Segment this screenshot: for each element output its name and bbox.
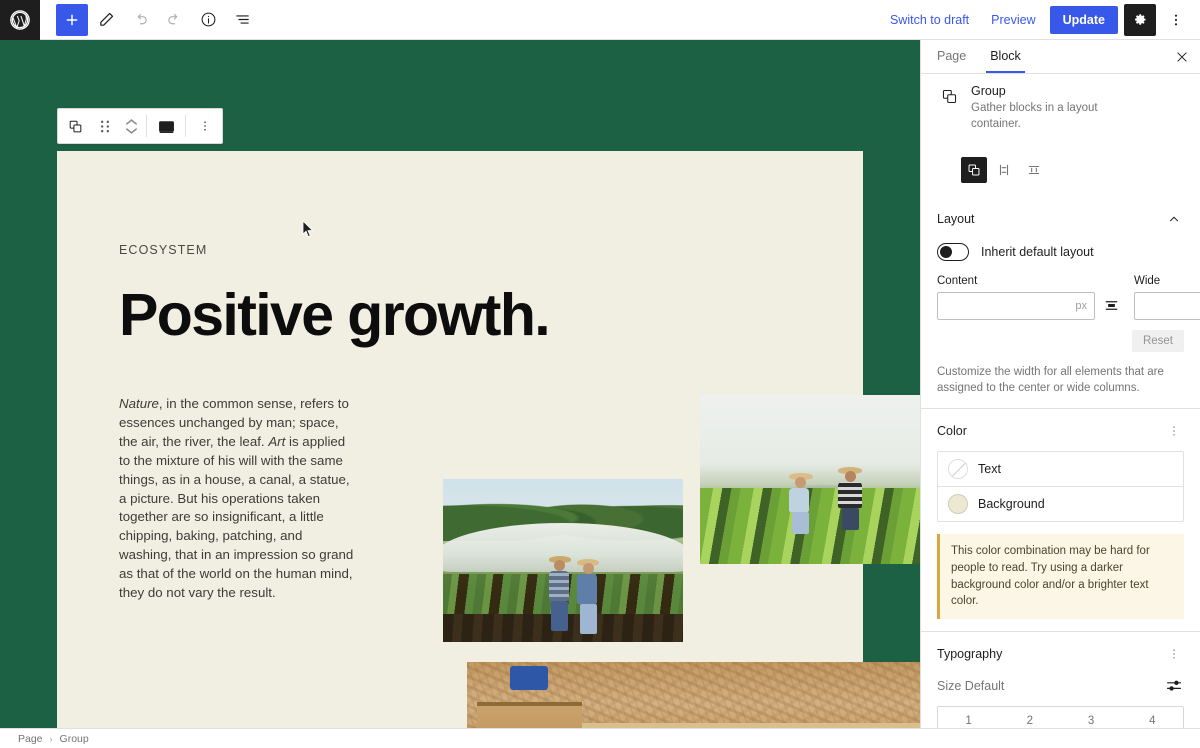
- text-color-swatch-none-icon: [948, 459, 968, 479]
- wide-width-label: Wide: [1134, 275, 1200, 287]
- more-options-vertical-dots-icon[interactable]: [1162, 4, 1190, 36]
- layout-title: Layout: [937, 212, 975, 226]
- top-bar-right-actions: Switch to draft Preview Update: [882, 4, 1200, 36]
- paragraph-emphasis-nature: Nature: [119, 396, 159, 411]
- color-options-list: Text Background: [937, 451, 1184, 522]
- typography-panel-header: Typography: [937, 644, 1184, 664]
- eyebrow-label: ECOSYSTEM: [119, 243, 801, 257]
- font-size-step-1[interactable]: 1: [938, 707, 999, 728]
- font-size-step-2[interactable]: 2: [999, 707, 1060, 728]
- chevron-up-icon[interactable]: [1164, 209, 1184, 229]
- typography-panel: Typography Size Default: [921, 632, 1200, 728]
- wordpress-logo-icon[interactable]: [0, 0, 40, 40]
- background-color-label: Background: [978, 497, 1045, 511]
- inherit-default-layout-label: Inherit default layout: [981, 245, 1094, 259]
- color-panel: Color Text: [921, 409, 1200, 632]
- font-size-row: Size Default: [937, 676, 1184, 696]
- switch-to-draft-button[interactable]: Switch to draft: [882, 7, 977, 33]
- block-options-vertical-dots-icon[interactable]: [190, 109, 220, 143]
- post-content-frame[interactable]: ECOSYSTEM Positive growth. Nature, in th…: [57, 151, 863, 728]
- inherit-layout-row[interactable]: Inherit default layout: [937, 243, 1184, 261]
- drag-dots-icon[interactable]: [90, 109, 120, 143]
- text-color-label: Text: [978, 462, 1001, 476]
- content-width-control: Content: [937, 275, 1120, 320]
- layout-panel-header[interactable]: Layout: [937, 209, 1184, 229]
- breadcrumb-separator: ›: [50, 734, 53, 744]
- color-item-background[interactable]: Background: [938, 486, 1183, 521]
- undo-button[interactable]: [124, 4, 156, 36]
- content-columns: Nature, in the common sense, refers to e…: [119, 395, 801, 603]
- breadcrumb: Page › Group: [18, 733, 89, 745]
- editor-top-bar: Switch to draft Preview Update: [0, 0, 1200, 40]
- image-workshop-interior[interactable]: [467, 662, 920, 728]
- editor-canvas[interactable]: ECOSYSTEM Positive growth. Nature, in th…: [0, 40, 920, 728]
- tab-block[interactable]: Block: [978, 40, 1033, 73]
- paragraph-emphasis-art: Art: [268, 434, 285, 449]
- block-toolbar: [57, 108, 223, 144]
- variation-group-icon[interactable]: [961, 157, 987, 183]
- layout-help-text: Customize the width for all elements tha…: [937, 364, 1184, 397]
- image-farmers-in-polytunnel[interactable]: [700, 395, 920, 564]
- move-up-down-chevron-icon[interactable]: [120, 109, 142, 143]
- variation-row-icon[interactable]: [991, 157, 1017, 183]
- inherit-default-layout-toggle[interactable]: [937, 243, 969, 261]
- toolbar-divider-2: [185, 115, 186, 137]
- close-sidebar-icon[interactable]: [1168, 43, 1196, 71]
- wide-width-control: Wide: [1134, 275, 1200, 320]
- variation-stack-icon[interactable]: [1021, 157, 1047, 183]
- list-view-button[interactable]: [226, 4, 258, 36]
- block-description: Gather blocks in a layout container.: [971, 101, 1129, 133]
- page-title[interactable]: Positive growth.: [119, 285, 801, 345]
- group-icon: [937, 84, 961, 108]
- details-button[interactable]: [192, 4, 224, 36]
- top-bar-left-tools: [40, 4, 258, 36]
- add-block-button[interactable]: [56, 4, 88, 36]
- paragraph-text-2: is applied to the mixture of his will wi…: [119, 434, 353, 600]
- layout-panel: Layout Inherit default layout Content: [921, 197, 1200, 410]
- wordpress-block-editor: Switch to draft Preview Update: [0, 0, 1200, 748]
- typography-options-vertical-dots-icon[interactable]: [1164, 644, 1184, 664]
- update-button[interactable]: Update: [1050, 6, 1118, 34]
- sidebar-scroll-area[interactable]: Group Gather blocks in a layout containe…: [921, 74, 1200, 728]
- wide-width-input[interactable]: [1134, 292, 1200, 320]
- mouse-cursor-icon: [302, 220, 314, 238]
- block-variations: [961, 157, 1184, 183]
- contrast-warning-notice: This color combination may be hard for p…: [937, 534, 1184, 619]
- layout-reset-row: Reset: [937, 330, 1184, 352]
- block-title: Group: [971, 84, 1129, 98]
- typography-title: Typography: [937, 647, 1002, 661]
- color-title: Color: [937, 424, 967, 438]
- block-type-group-icon[interactable]: [60, 109, 90, 143]
- content-width-label: Content: [937, 275, 1120, 287]
- color-panel-header: Color: [937, 421, 1184, 441]
- breadcrumb-item-group[interactable]: Group: [60, 733, 89, 745]
- reset-button[interactable]: Reset: [1132, 330, 1184, 352]
- editor-body: ECOSYSTEM Positive growth. Nature, in th…: [0, 40, 1200, 728]
- toolbar-divider: [146, 115, 147, 137]
- font-size-sliders-icon[interactable]: [1164, 676, 1184, 696]
- body-paragraph[interactable]: Nature, in the common sense, refers to e…: [119, 395, 355, 603]
- font-size-label: Size Default: [937, 679, 1004, 693]
- breadcrumb-item-page[interactable]: Page: [18, 733, 43, 745]
- font-size-step-selector: 1 2 3 4: [937, 706, 1184, 728]
- settings-gear-icon[interactable]: [1124, 4, 1156, 36]
- color-item-text[interactable]: Text: [938, 452, 1183, 486]
- content-width-unit-icon[interactable]: [1102, 294, 1120, 318]
- redo-button[interactable]: [158, 4, 190, 36]
- layout-width-controls: Content Wide: [937, 275, 1184, 320]
- full-width-align-icon[interactable]: [151, 109, 181, 143]
- background-color-swatch: [948, 494, 968, 514]
- color-options-vertical-dots-icon[interactable]: [1164, 421, 1184, 441]
- block-info-card: Group Gather blocks in a layout containe…: [921, 74, 1200, 145]
- tab-page[interactable]: Page: [925, 40, 978, 73]
- image-farmers-greenhouse-exterior[interactable]: [443, 479, 683, 642]
- settings-sidebar: Page Block: [920, 40, 1200, 728]
- font-size-step-3[interactable]: 3: [1061, 707, 1122, 728]
- edit-tool-button[interactable]: [90, 4, 122, 36]
- preview-button[interactable]: Preview: [983, 7, 1043, 33]
- editor-footer: Page › Group: [0, 728, 1200, 748]
- sidebar-tabs: Page Block: [921, 40, 1200, 74]
- post-inner: ECOSYSTEM Positive growth. Nature, in th…: [57, 151, 863, 603]
- content-width-input[interactable]: [937, 292, 1095, 320]
- font-size-step-4[interactable]: 4: [1122, 707, 1183, 728]
